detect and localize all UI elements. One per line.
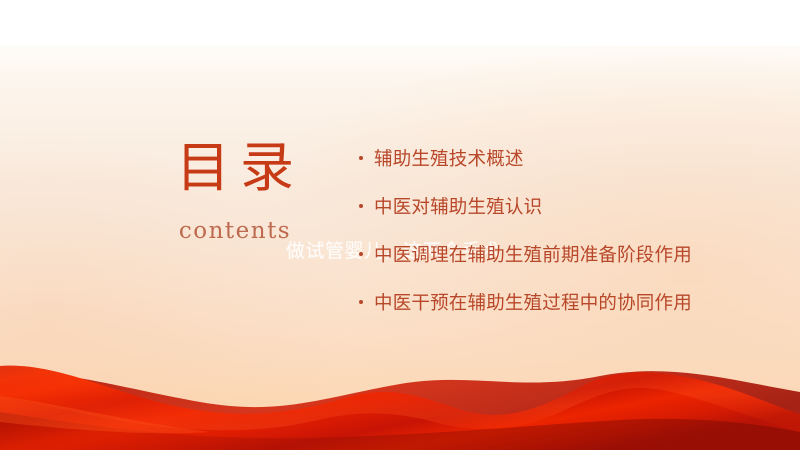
list-item[interactable]: 中医调理在辅助生殖前期准备阶段作用 <box>358 239 710 273</box>
bullet-icon <box>359 156 363 160</box>
list-item-label: 辅助生殖技术概述 <box>374 149 524 170</box>
list-item[interactable]: 中医干预在辅助生殖过程中的协同作用 <box>358 287 710 321</box>
toc-heading-block: 目录 contents <box>120 138 350 245</box>
red-ribbon-decoration <box>0 340 800 450</box>
list-item[interactable]: 辅助生殖技术概述 <box>358 143 710 177</box>
page-subtitle: contents <box>120 217 350 245</box>
bullet-icon <box>359 204 363 208</box>
list-item-label: 中医干预在辅助生殖过程中的协同作用 <box>374 293 692 314</box>
bullet-icon <box>359 300 363 304</box>
list-item-label: 中医对辅助生殖认识 <box>374 197 542 218</box>
list-item[interactable]: 中医对辅助生殖认识 <box>358 191 710 225</box>
slide-canvas: 做试管婴儿，这两个手术 目录 contents 辅助生殖技术概述 中医对辅助生殖… <box>0 0 800 450</box>
bullet-icon <box>359 252 363 256</box>
page-title: 目录 <box>120 138 350 198</box>
background-top-band <box>0 0 800 46</box>
list-item-label: 中医调理在辅助生殖前期准备阶段作用 <box>374 245 692 266</box>
toc-list: 辅助生殖技术概述 中医对辅助生殖认识 中医调理在辅助生殖前期准备阶段作用 中医干… <box>358 143 710 321</box>
